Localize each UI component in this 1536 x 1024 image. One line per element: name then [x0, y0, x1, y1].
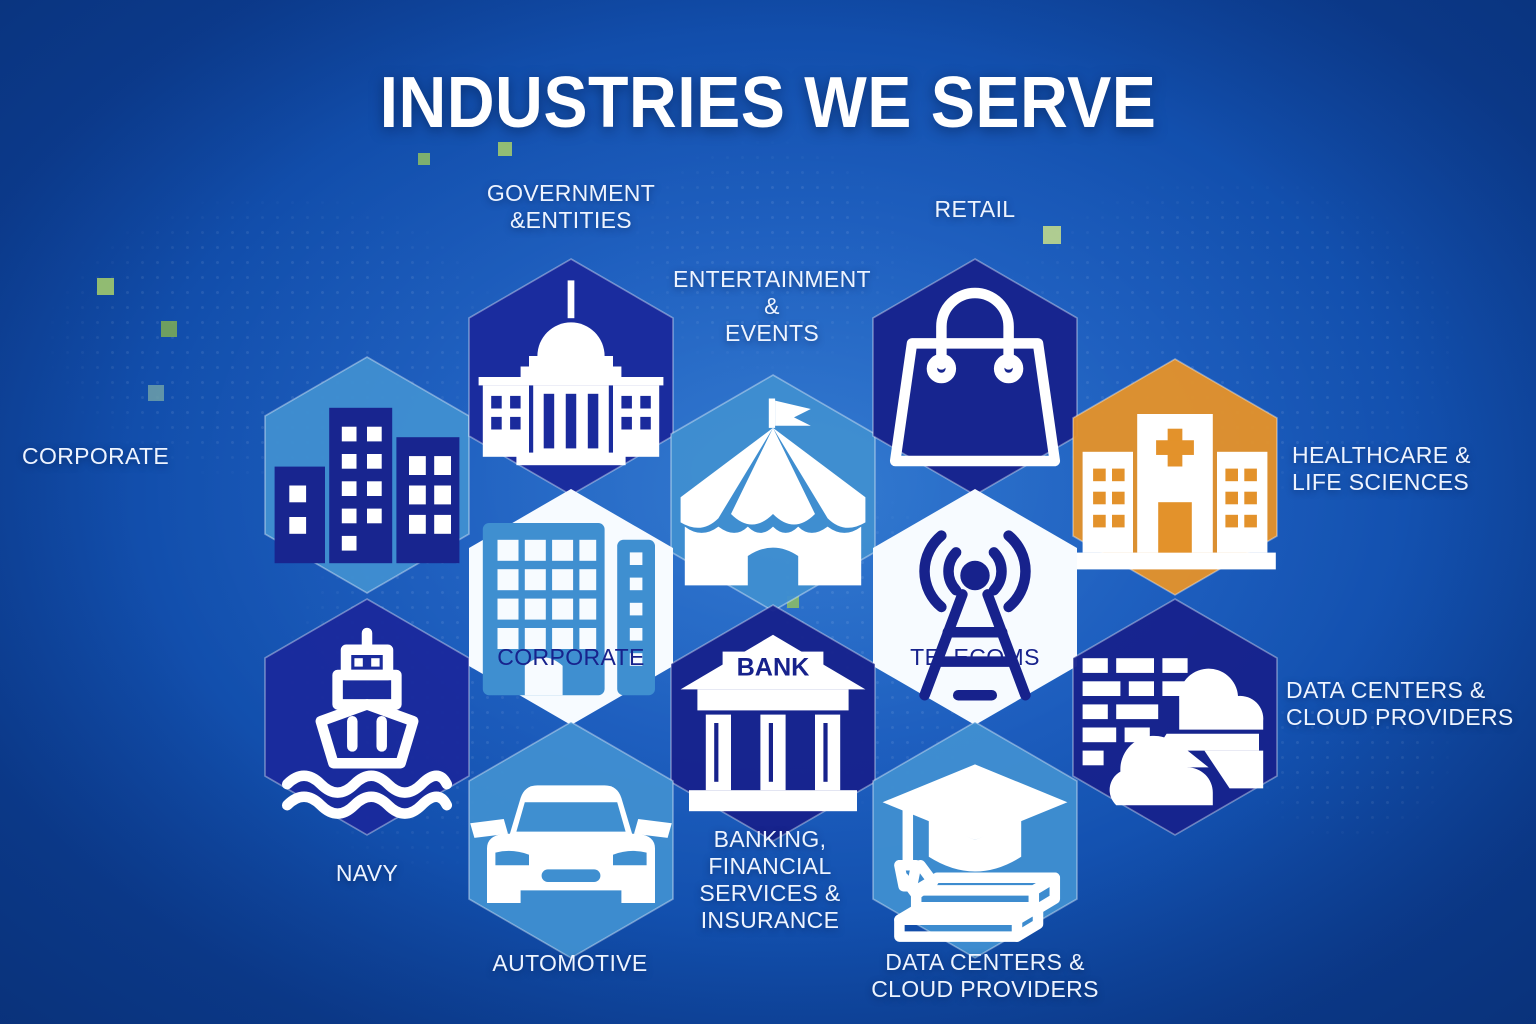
hexagon-healthcare[interactable]: [1070, 357, 1280, 597]
label-data_centers_cloud_right: DATA CENTERS & CLOUD PROVIDERS: [1286, 677, 1536, 731]
hexagon-datacenters_right[interactable]: [1070, 597, 1280, 837]
graduation-cap-books-icon: [870, 720, 1080, 960]
hexagon-education[interactable]: [870, 720, 1080, 960]
shopping-bag-icon-svg: [870, 257, 1080, 497]
car-icon-svg: [466, 720, 676, 960]
label-government_entities: GOVERNMENT &ENTITIES: [441, 180, 701, 234]
hospital-icon: [1070, 357, 1280, 597]
bank-icon-svg: BANK: [668, 603, 878, 843]
label-entertainment_events: ENTERTAINMENT & EVENTS: [647, 266, 897, 347]
hexagon-label-telecoms: TELECOMS: [870, 644, 1080, 671]
hexagon-navy[interactable]: [262, 597, 472, 837]
office-buildings-icon-svg: [262, 355, 472, 595]
hospital-icon-svg: [1070, 357, 1280, 597]
label-retail: RETAIL: [860, 196, 1090, 223]
hexagon-corporate_left[interactable]: [262, 355, 472, 595]
capitol-building-icon-svg: [466, 257, 676, 497]
hexagon-corporate_center[interactable]: CORPORATE: [466, 487, 676, 727]
hexagon-government[interactable]: [466, 257, 676, 497]
ship-icon-svg: [262, 597, 472, 837]
server-cloud-icon: [1070, 597, 1280, 837]
label-banking_financial: BANKING, FINANCIAL SERVICES & INSURANCE: [650, 826, 890, 934]
hexagon-entertainment[interactable]: [668, 373, 878, 613]
hexagon-telecoms[interactable]: TELECOMS: [870, 487, 1080, 727]
hexagon-retail[interactable]: [870, 257, 1080, 497]
label-automotive: AUTOMOTIVE: [455, 950, 685, 977]
hexagon-automotive[interactable]: [466, 720, 676, 960]
circus-tent-icon-svg: [668, 373, 878, 613]
office-building-icon-svg: [466, 487, 676, 727]
shopping-bag-icon: [870, 257, 1080, 497]
car-icon: [466, 720, 676, 960]
capitol-building-icon: [466, 257, 676, 497]
bank-icon: BANK: [668, 603, 878, 843]
label-data_centers_cloud_bottom: DATA CENTERS & CLOUD PROVIDERS: [855, 949, 1115, 1003]
hexagon-banking[interactable]: BANK: [668, 603, 878, 843]
ship-icon: [262, 597, 472, 837]
label-healthcare_life_sciences: HEALTHCARE & LIFE SCIENCES: [1292, 442, 1536, 496]
server-cloud-icon-svg: [1070, 597, 1280, 837]
antenna-tower-icon-svg: [870, 487, 1080, 727]
graduation-cap-books-icon-svg: [870, 720, 1080, 960]
label-corporate: CORPORATE: [22, 443, 262, 470]
hexagon-label-corporate_center: CORPORATE: [466, 644, 676, 671]
label-navy: NAVY: [252, 860, 482, 887]
office-buildings-icon: [262, 355, 472, 595]
circus-tent-icon: [668, 373, 878, 613]
svg-text:BANK: BANK: [737, 654, 810, 682]
infographic-canvas: INDUSTRIES WE SERVE CORPORATETELECOMSBAN…: [0, 0, 1536, 1024]
